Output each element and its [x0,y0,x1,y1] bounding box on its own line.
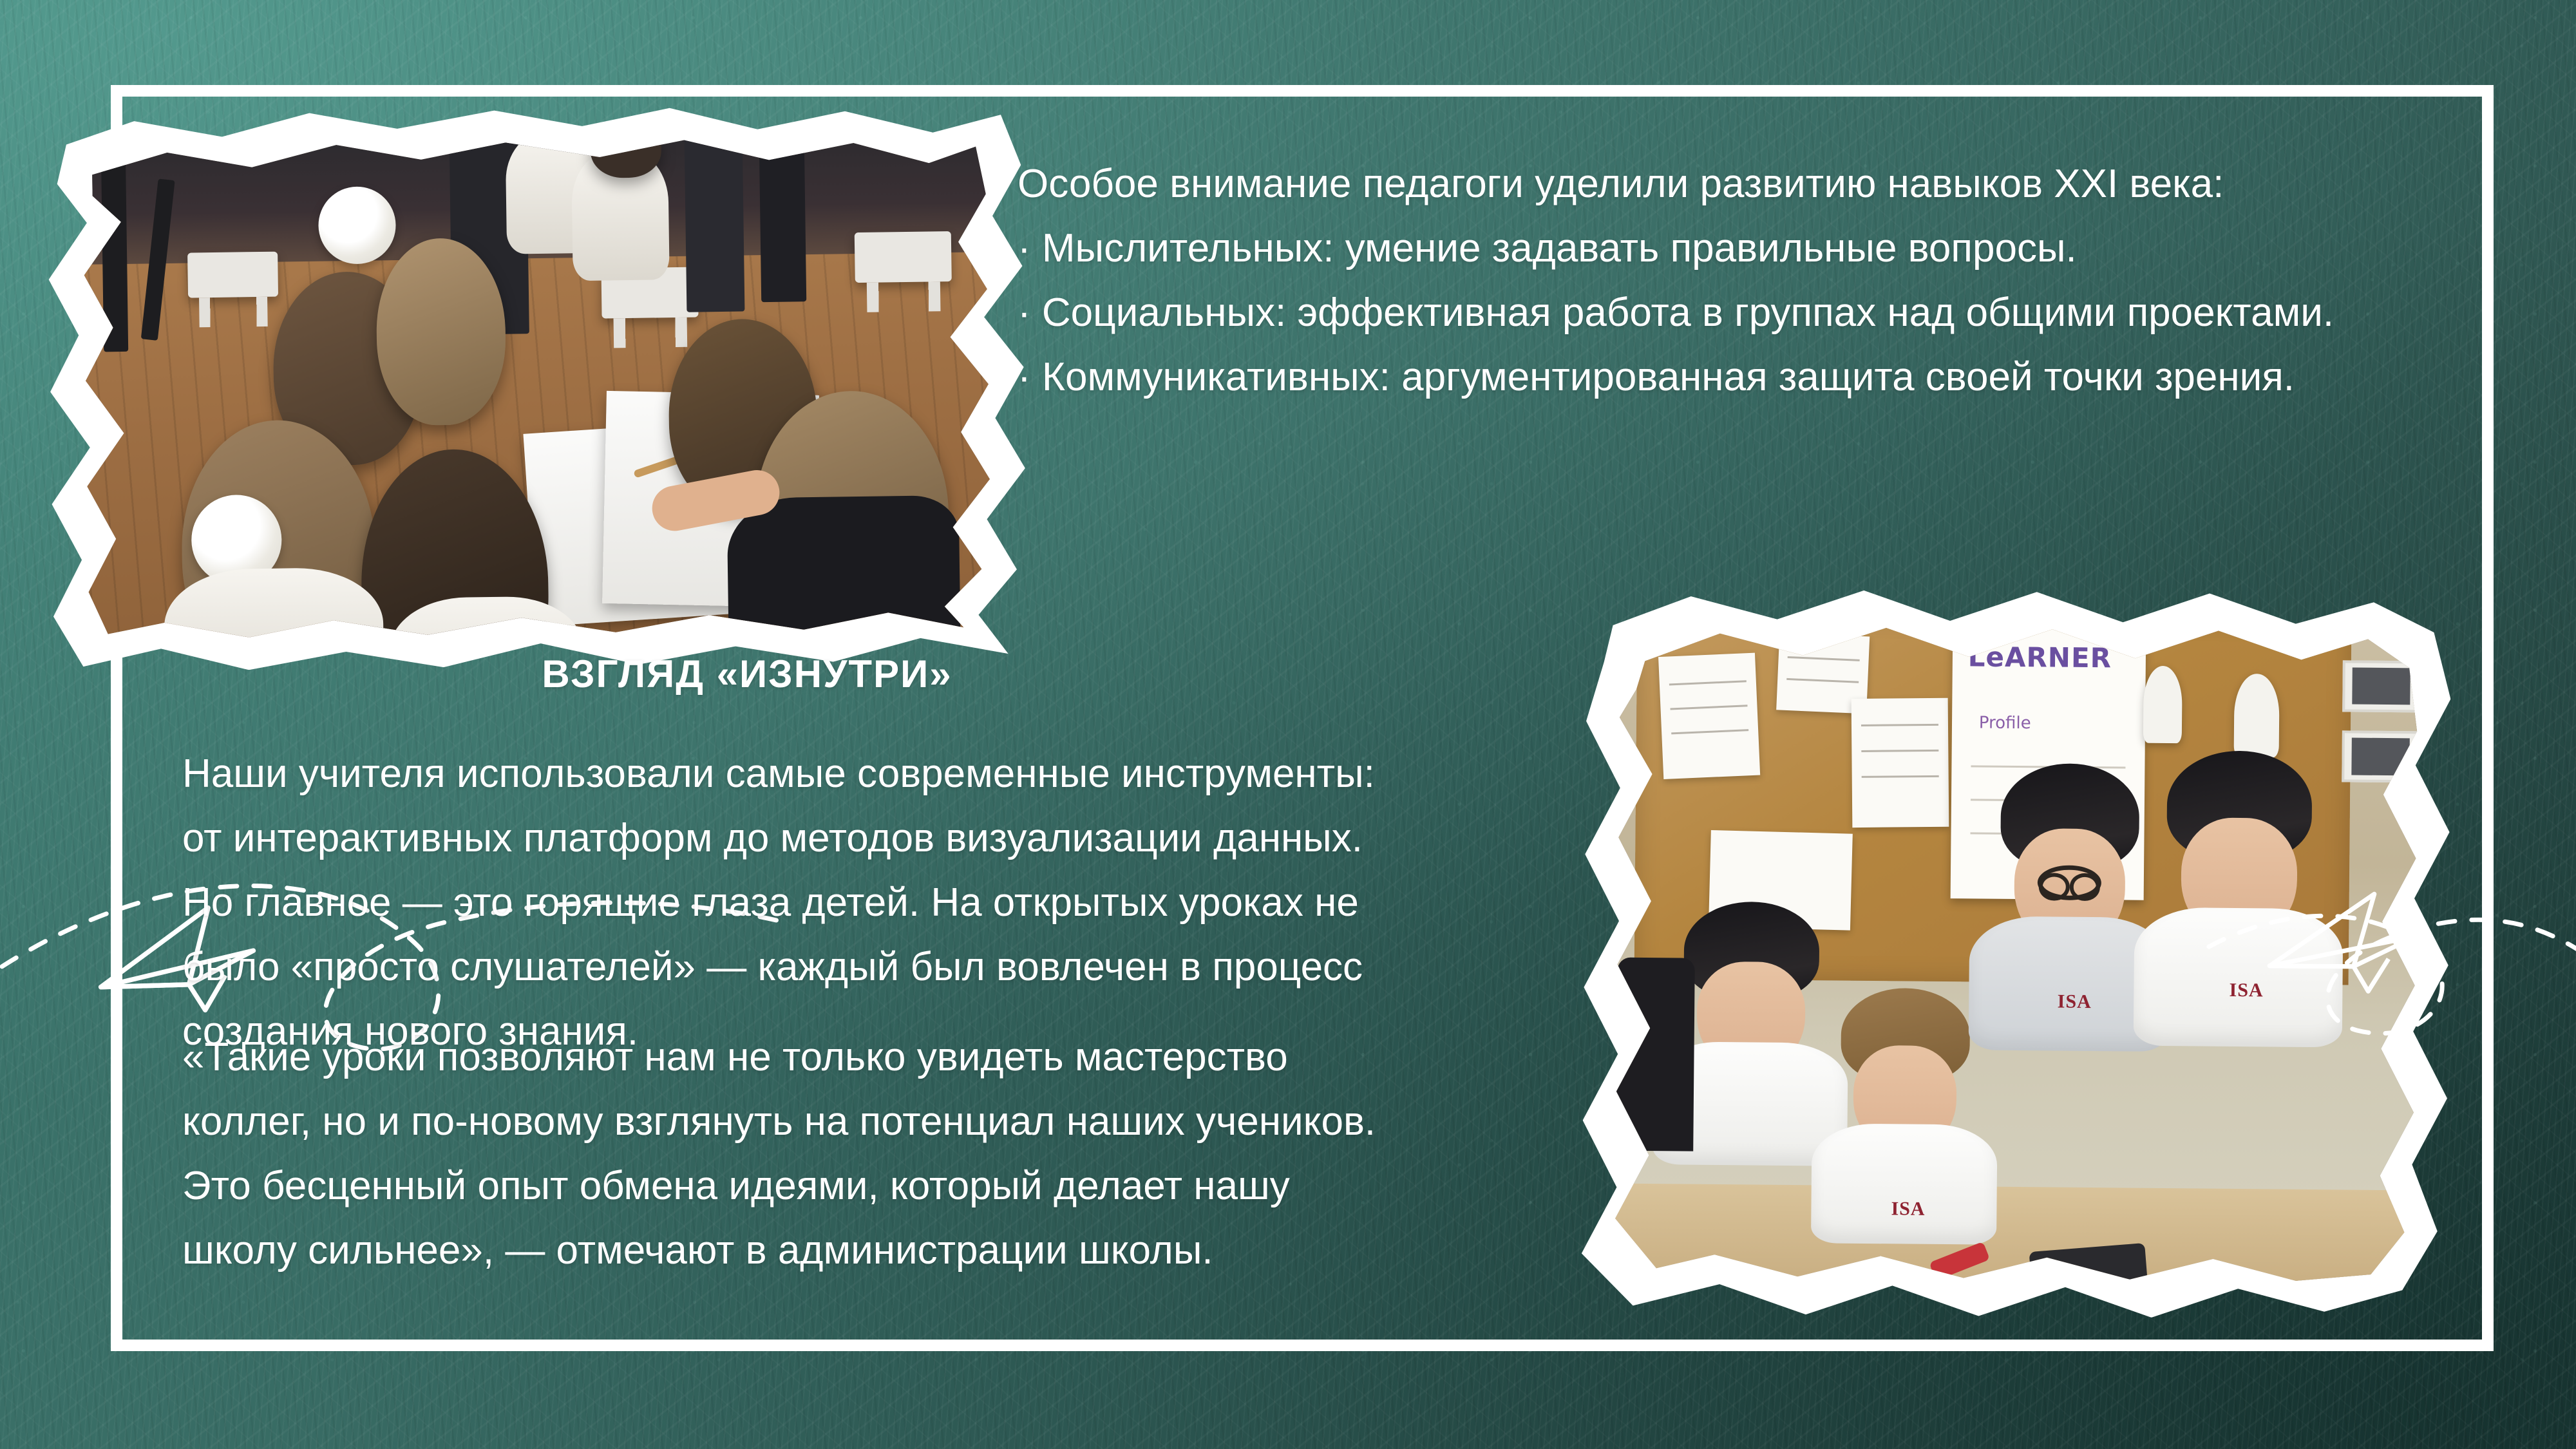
photo-image-students-isa: LeARNER Profile [1598,590,2435,1303]
skills-line-2: · Социальных: эффективная работа в групп… [1018,281,2428,345]
skills-text-block: Особое внимание педагоги уделили развити… [1018,152,2428,410]
section-heading: ВЗГЛЯД «ИЗНУТРИ» [361,652,1133,696]
tools-text-block: Наши учителя использовали самые современ… [182,742,1406,1064]
quote-paragraph: «Такие уроки позволяют нам не только уви… [182,1025,1406,1283]
quote-text-block: «Такие уроки позволяют нам не только уви… [182,1025,1406,1283]
isa-logo-2: ISA [2058,990,2092,1012]
photo-image-classroom-girls [63,115,1010,656]
skills-line-3: · Коммуникативных: аргументированная защ… [1018,345,2428,410]
isa-logo: ISA [1891,1198,1925,1220]
skills-line-0: Особое внимание педагоги уделили развити… [1018,152,2428,216]
poster-subtitle: Profile [1979,713,2031,733]
tools-paragraph: Наши учителя использовали самые современ… [182,742,1406,1064]
photo-students-isa: LeARNER Profile [1598,590,2435,1303]
student-right: ISA [2166,750,2313,990]
student-second: ISA [1840,987,1971,1195]
student-left [1683,902,1820,1115]
isa-logo-3: ISA [2229,980,2263,1001]
slide-root: LeARNER Profile [0,0,2576,1449]
student-girl-glasses: ISA [2000,763,2140,996]
photo-classroom-girls [63,115,1010,656]
skills-line-1: · Мыслительных: умение задавать правильн… [1018,216,2428,281]
